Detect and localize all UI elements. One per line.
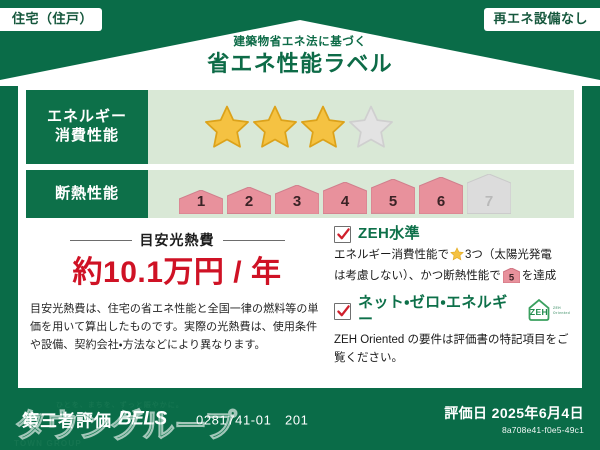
- energy-performance-label-cell: エネルギー 消費性能: [26, 90, 148, 164]
- energy-label-line2: 消費性能: [55, 127, 119, 146]
- star-empty-icon: [348, 104, 394, 150]
- svg-text:Oriented: Oriented: [553, 311, 570, 315]
- cost-rule-right: [223, 240, 285, 241]
- insulation-performance-row: 断熱性能 1234567: [26, 170, 574, 218]
- label-title-group: 建築物省エネ法に基づく 省エネ性能ラベル: [0, 36, 600, 76]
- star-filled-icon: [300, 104, 346, 150]
- zeh-desc-part1: エネルギー消費性能で: [334, 249, 449, 261]
- insulation-performance-label-cell: 断熱性能: [26, 170, 148, 218]
- insulation-grade-number: 4: [322, 193, 368, 210]
- insulation-grade-number: 3: [274, 193, 320, 210]
- insulation-grade-badge: 7: [466, 174, 512, 214]
- star-filled-icon: [252, 104, 298, 150]
- energy-performance-row: エネルギー 消費性能: [26, 90, 574, 164]
- energy-label-line1: エネルギー: [47, 108, 127, 127]
- checkbox-checked-icon: [334, 303, 351, 320]
- label-body-panel: エネルギー 消費性能 断熱性能 1234567 目安光熱費: [18, 82, 582, 388]
- zeh-desc-part3: を達成: [522, 270, 557, 282]
- insulation-grade-badge: 2: [226, 187, 272, 214]
- insulation-grade-number: 5: [370, 193, 416, 210]
- cost-rule-left: [70, 240, 132, 241]
- utility-cost-heading: 目安光熱費: [140, 230, 215, 250]
- inline-star-icon: [450, 252, 464, 264]
- zeh-netzero-title: ネット・ゼロ・エネルギー: [358, 295, 517, 328]
- insulation-grade-number: 2: [226, 193, 272, 210]
- inline-grade-badge-icon: 5: [503, 274, 520, 286]
- utility-cost-value: 約10.1万円 / 年: [28, 256, 326, 289]
- third-party-evaluation-label: 第三者評価: [22, 407, 112, 432]
- bels-group: 第三者評価 BELS: [22, 407, 167, 432]
- star-filled-icon: [204, 104, 250, 150]
- certificate-id: 0281741-01 201: [196, 410, 309, 429]
- bels-logo: BELS: [118, 408, 167, 430]
- checkbox-checked-icon: [334, 226, 351, 243]
- zeh-section: ZEH水準 エネルギー消費性能で3つ（太陽光発電 は考慮しない）、かつ断熱性能で…: [326, 226, 572, 388]
- label-subtitle: 建築物省エネ法に基づく: [0, 36, 600, 49]
- utility-cost-section: 目安光熱費 約10.1万円 / 年 目安光熱費は、住宅の省エネ性能と全国一律の燃…: [28, 226, 326, 388]
- svg-text:ZEH: ZEH: [553, 306, 561, 310]
- page-title: 省エネ性能ラベル: [0, 51, 600, 76]
- zeh-netzero-description: ZEH Oriented の要件は評価書の特記項目をご覧ください。: [334, 331, 572, 367]
- star-rating: [204, 104, 394, 150]
- insulation-grade-badge: 4: [322, 182, 368, 214]
- insulation-label: 断熱性能: [55, 185, 119, 204]
- zeh-house-logo-icon: ZEH ZEH Oriented: [526, 297, 572, 328]
- insulation-grade-badge: 6: [418, 177, 464, 214]
- label-footer: 第三者評価 BELS 0281741-01 201 評価日 2025年6月4日 …: [0, 388, 600, 450]
- insulation-grade-number: 7: [466, 193, 512, 210]
- utility-cost-heading-row: 目安光熱費: [28, 230, 326, 250]
- evaluation-date: 評価日 2025年6月4日: [444, 403, 584, 423]
- zeh-netzero-block: ネット・ゼロ・エネルギー ZEH ZEH Oriented ZEH Orient…: [334, 295, 572, 367]
- zeh-standard-block: ZEH水準 エネルギー消費性能で3つ（太陽光発電 は考慮しない）、かつ断熱性能で…: [334, 226, 572, 289]
- insulation-performance-value-cell: 1234567: [148, 170, 574, 218]
- svg-text:ZEH: ZEH: [530, 307, 548, 317]
- zeh-desc-star-count: 3つ（太陽光発電: [465, 249, 552, 261]
- insulation-grade-badge: 3: [274, 185, 320, 214]
- zeh-netzero-title-row: ネット・ゼロ・エネルギー ZEH ZEH Oriented: [334, 295, 572, 328]
- zeh-standard-description: エネルギー消費性能で3つ（太陽光発電 は考慮しない）、かつ断熱性能で5を達成: [334, 246, 572, 289]
- insulation-grade-scale: 1234567: [178, 174, 512, 214]
- zeh-standard-title: ZEH水準: [358, 226, 420, 243]
- evaluation-info: 評価日 2025年6月4日 8a708e41-f0e5-49c1: [444, 403, 584, 435]
- utility-cost-note: 目安光熱費は、住宅の省エネ性能と全国一律の燃料等の単価を用いて算出したものです。…: [28, 301, 326, 354]
- insulation-grade-number: 1: [178, 193, 224, 210]
- svg-text:5: 5: [509, 272, 515, 283]
- insulation-grade-number: 6: [418, 193, 464, 210]
- insulation-grade-badge: 1: [178, 190, 224, 214]
- evaluation-hash: 8a708e41-f0e5-49c1: [444, 425, 584, 435]
- renewable-equipment-tag: 再エネ設備なし: [484, 8, 600, 31]
- insulation-grade-badge: 5: [370, 179, 416, 213]
- energy-performance-value-cell: [148, 90, 574, 164]
- zeh-desc-part2: は考慮しない）、かつ断熱性能で: [334, 270, 501, 282]
- lower-content: 目安光熱費 約10.1万円 / 年 目安光熱費は、住宅の省エネ性能と全国一律の燃…: [28, 226, 572, 388]
- building-type-tag: 住宅（住戸）: [0, 8, 102, 31]
- energy-performance-label: 住宅（住戸） 再エネ設備なし 建築物省エネ法に基づく 省エネ性能ラベル エネルギ…: [0, 0, 600, 450]
- zeh-standard-title-row: ZEH水準: [334, 226, 572, 243]
